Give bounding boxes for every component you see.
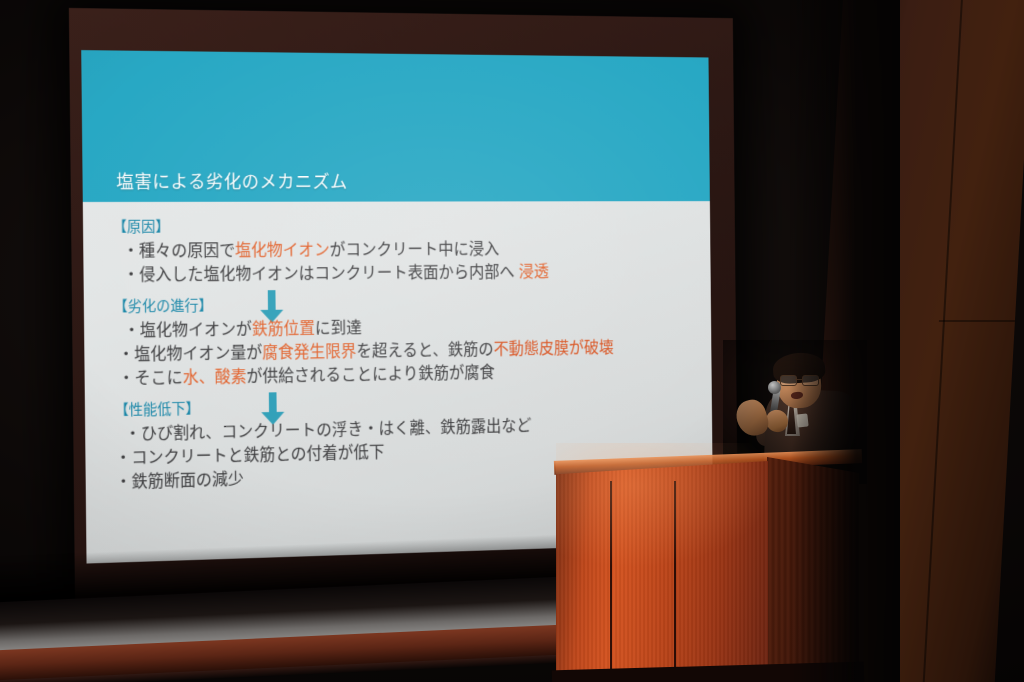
slide-title: 塩害による劣化のメカニズム <box>116 168 348 194</box>
podium-front-panel <box>556 461 768 682</box>
stage-backdrop-shadow <box>790 0 900 682</box>
podium-panel-seam <box>674 481 676 682</box>
line-run-highlight: 不動態皮膜が破壊 <box>494 339 614 358</box>
section-heading: 【原因】 <box>113 216 688 239</box>
line-run: ・種々の原因で <box>123 242 236 260</box>
slide-section-cause: 【原因】 ・種々の原因で塩化物イオンがコンクリート中に浸入 ・侵入した塩化物イオ… <box>113 216 688 287</box>
wall-seam-vertical <box>920 0 963 682</box>
podium-panel-seam <box>610 481 612 682</box>
line-run: を超えると、鉄筋の <box>356 341 493 360</box>
presentation-scene: 塩害による劣化のメカニズム 【原因】 ・種々の原因で塩化物イオンがコンクリート中… <box>0 0 1024 682</box>
line-run: ・侵入した塩化物イオンはコンクリート表面から内部へ <box>123 264 519 285</box>
slide-title-band: 塩害による劣化のメカニズム <box>81 50 710 202</box>
line-run: ・塩化物イオン量が <box>118 344 262 364</box>
wall-seam-horizontal <box>939 320 1015 322</box>
line-run: ・塩化物イオンが <box>123 321 251 340</box>
line-run-highlight: 塩化物イオン <box>235 241 330 259</box>
line-run: ・そこに <box>118 369 183 388</box>
slide-line: ・侵入した塩化物イオンはコンクリート表面から内部へ 浸透 <box>113 260 688 288</box>
slide-section-progression: 【劣化の進行】 ・塩化物イオンが鉄筋位置に到達 ・塩化物イオン量が腐食発生限界を… <box>113 292 688 391</box>
line-run: に到達 <box>315 319 362 337</box>
line-run-highlight: 腐食発生限界 <box>262 343 356 362</box>
microphone-icon <box>768 381 781 394</box>
line-run-highlight: 水、酸素 <box>183 368 247 387</box>
line-run-highlight: 鉄筋位置 <box>252 320 315 338</box>
line-run: がコンクリート中に浸入 <box>330 241 500 259</box>
line-run-highlight: 浸透 <box>519 263 549 281</box>
line-run: が供給されることにより鉄筋が腐食 <box>246 364 494 386</box>
